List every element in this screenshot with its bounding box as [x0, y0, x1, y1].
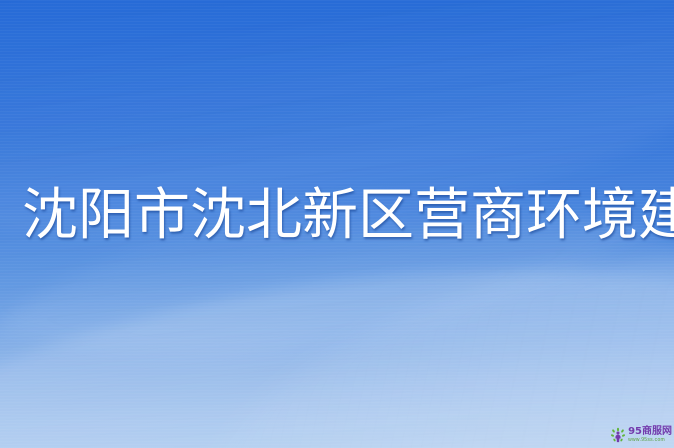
page-title: 沈阳市沈北新区营商环境建设局 — [22, 186, 674, 246]
background-swoosh-edge — [0, 222, 674, 448]
watermark-text: 95商服网 www.95ss.com — [628, 427, 672, 443]
person-sparkle-logo-icon — [610, 427, 626, 443]
watermark-name: 95商服网 — [628, 427, 672, 437]
site-banner: 沈阳市沈北新区营商环境建设局 — [0, 0, 674, 448]
watermark-url: www.95ss.com — [628, 438, 672, 443]
watermark: 95商服网 www.95ss.com — [610, 427, 672, 443]
